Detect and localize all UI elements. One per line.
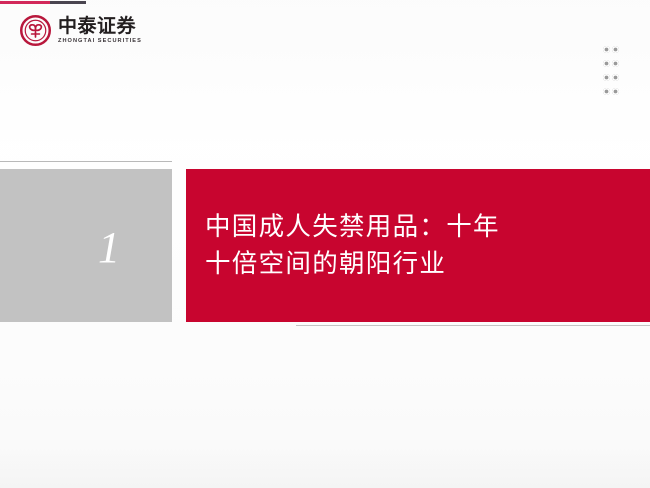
grid-dot xyxy=(612,46,621,55)
grid-dot xyxy=(612,88,621,97)
section-number-block: 1 xyxy=(0,169,172,322)
grid-dot xyxy=(603,88,612,97)
section-title-banner: 中国成人失禁用品：十年 十倍空间的朝阳行业 xyxy=(186,169,650,322)
section-title-line-1: 中国成人失禁用品：十年 xyxy=(205,209,650,246)
grid-dot xyxy=(603,46,612,55)
grid-dot xyxy=(612,74,621,83)
top-accent-dark-segment xyxy=(50,1,86,4)
zhongtai-circular-emblem-icon xyxy=(20,15,51,46)
background-lower-band xyxy=(0,448,650,488)
brand-name-cn: 中泰证券 xyxy=(58,17,142,36)
grid-dot xyxy=(603,60,612,69)
brand-logo: 中泰证券 ZHONGTAI SECURITIES xyxy=(20,15,142,46)
section-title-line-2: 十倍空间的朝阳行业 xyxy=(205,246,650,283)
decorative-dot-grid xyxy=(603,46,621,102)
top-accent-rule xyxy=(0,1,86,4)
grid-dot xyxy=(612,60,621,69)
brand-name-en: ZHONGTAI SECURITIES xyxy=(58,39,142,45)
background-chevron xyxy=(120,300,540,488)
presentation-slide: 中泰证券 ZHONGTAI SECURITIES 1 中国成人失禁用品：十年 十… xyxy=(0,0,650,488)
divider-below-title-banner xyxy=(296,325,650,326)
top-accent-red-segment xyxy=(0,1,50,4)
grid-dot xyxy=(603,74,612,83)
brand-logo-text: 中泰证券 ZHONGTAI SECURITIES xyxy=(58,17,142,45)
section-number: 1 xyxy=(98,226,120,270)
divider-above-section-number xyxy=(0,161,172,162)
